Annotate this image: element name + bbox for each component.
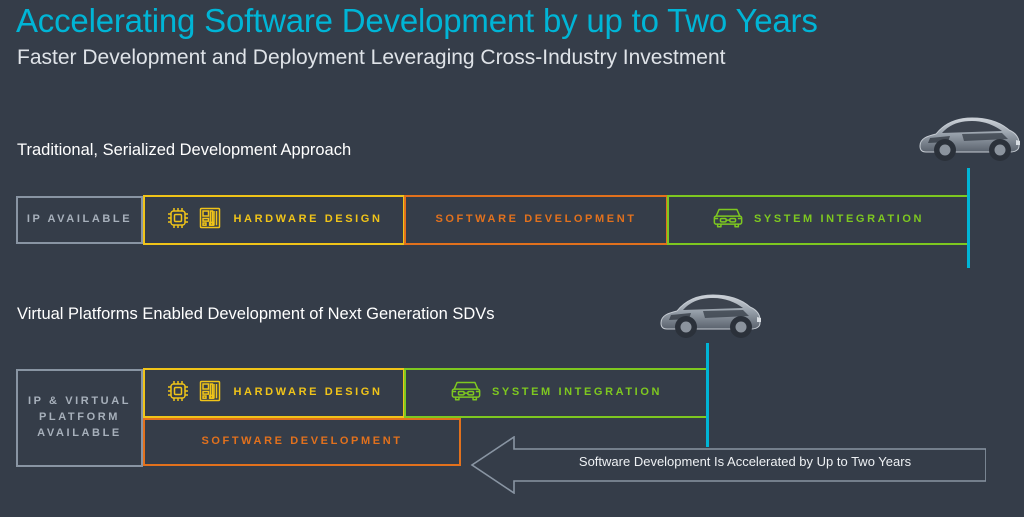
phase-box-hardware-design[interactable]: HARDWARE DESIGN: [143, 195, 405, 245]
hardware-icon-group: [165, 205, 223, 236]
phase-box-hardware-design-virtual[interactable]: HARDWARE DESIGN: [143, 368, 405, 418]
page-title: Accelerating Software Development by up …: [16, 2, 818, 40]
timeline-end-marker-traditional: [967, 168, 970, 268]
car-silhouette-traditional: [912, 108, 1024, 166]
section-heading-traditional: Traditional, Serialized Development Appr…: [17, 141, 351, 160]
phase-box-ip-available[interactable]: IP AVAILABLE: [16, 196, 143, 244]
slide-canvas: Accelerating Software Development by up …: [0, 0, 1024, 517]
phase-box-software-development-virtual[interactable]: SOFTWARE DEVELOPMENT: [143, 418, 461, 466]
acceleration-arrow-label: Software Development Is Accelerated by U…: [520, 454, 970, 469]
phase-label: IP AVAILABLE: [27, 212, 132, 228]
page-subtitle: Faster Development and Deployment Levera…: [17, 46, 726, 70]
car-silhouette-virtual: [653, 285, 765, 343]
phase-label: SOFTWARE DEVELOPMENT: [435, 212, 636, 228]
phase-box-software-development[interactable]: SOFTWARE DEVELOPMENT: [404, 195, 668, 245]
phase-label: IP & VIRTUALPLATFORMAVAILABLE: [28, 394, 131, 442]
circuit-board-icon: [197, 205, 223, 236]
car-front-icon: [450, 378, 482, 408]
phase-label: HARDWARE DESIGN: [233, 212, 382, 228]
section-heading-virtual: Virtual Platforms Enabled Development of…: [17, 305, 495, 324]
phase-label: SYSTEM INTEGRATION: [492, 385, 662, 401]
phase-box-system-integration-virtual[interactable]: SYSTEM INTEGRATION: [404, 368, 708, 418]
timeline-end-marker-virtual: [706, 343, 709, 447]
car-front-icon: [712, 205, 744, 235]
phase-label: SYSTEM INTEGRATION: [754, 212, 924, 228]
phase-label: HARDWARE DESIGN: [233, 385, 382, 401]
phase-box-ip-virtual-platform-available[interactable]: IP & VIRTUALPLATFORMAVAILABLE: [16, 369, 143, 467]
cpu-chip-icon: [165, 205, 191, 236]
circuit-board-icon: [197, 378, 223, 409]
phase-box-system-integration[interactable]: SYSTEM INTEGRATION: [667, 195, 969, 245]
phase-label: SOFTWARE DEVELOPMENT: [201, 434, 402, 450]
cpu-chip-icon: [165, 378, 191, 409]
hardware-icon-group: [165, 378, 223, 409]
